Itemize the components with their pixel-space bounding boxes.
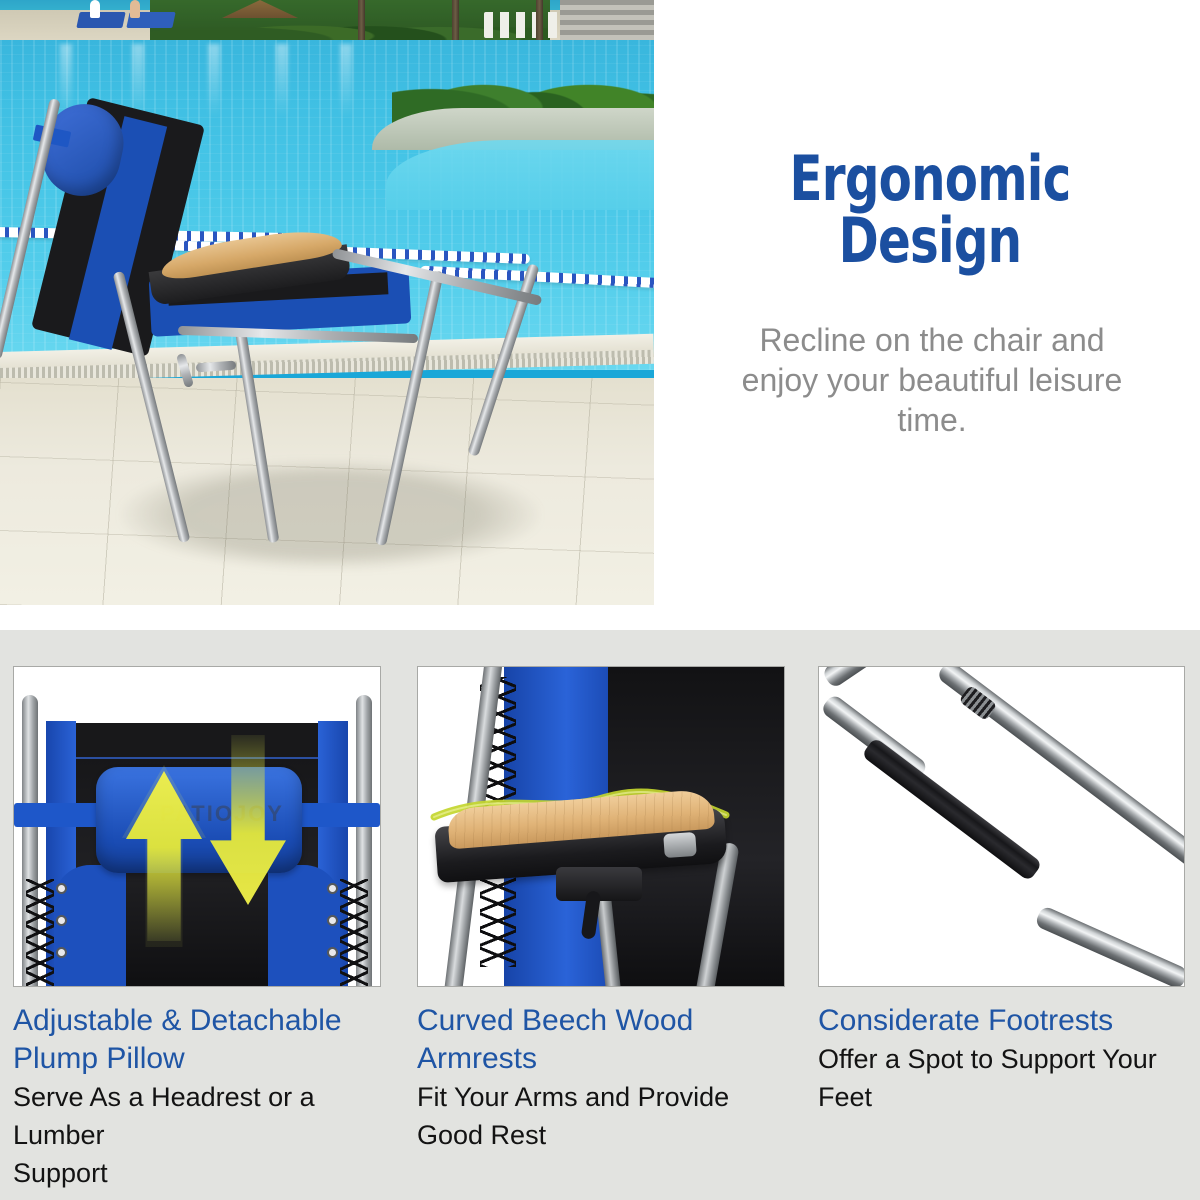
footrest-tube-lower bbox=[1034, 905, 1185, 987]
lacing-grommet bbox=[56, 915, 67, 926]
page-subtitle: Recline on the chair and enjoy your beau… bbox=[688, 320, 1176, 440]
hero-section: Ergonomic Design Recline on the chair an… bbox=[0, 0, 1200, 630]
feature-photo-armrest bbox=[417, 666, 785, 987]
lacing-grommet bbox=[327, 947, 338, 958]
lacing-grommet bbox=[56, 947, 67, 958]
backrest-top-band bbox=[66, 723, 332, 759]
footrest-illustration bbox=[819, 667, 1184, 986]
hero-photo bbox=[0, 0, 654, 605]
footrest-tube-bend bbox=[821, 666, 876, 689]
feature-body: Serve As a Headrest or a Lumber Support bbox=[13, 1078, 401, 1192]
feature-photo-footrest bbox=[818, 666, 1185, 987]
lacing-grommet bbox=[327, 915, 338, 926]
bungee-lacing-left bbox=[26, 879, 54, 987]
armrest-adjust-knob bbox=[663, 832, 697, 858]
feature-photo-pillow: PATIOJOY bbox=[13, 666, 381, 987]
lacing-grommet bbox=[327, 883, 338, 894]
hero-text-block: Ergonomic Design Recline on the chair an… bbox=[660, 0, 1200, 605]
bungee-lacing-right bbox=[340, 879, 368, 987]
features-section: PATIOJOY Adjustable & Detachable Plump P… bbox=[0, 630, 1200, 1200]
feature-body: Offer a Spot to Support Your Feet bbox=[818, 1040, 1200, 1116]
cup-holder-arm bbox=[196, 361, 237, 373]
feature-title: Adjustable & Detachable Plump Pillow bbox=[13, 1002, 401, 1078]
page-title: Ergonomic Design bbox=[719, 148, 1140, 272]
feature-body: Fit Your Arms and Provide Good Rest bbox=[417, 1078, 805, 1154]
zero-gravity-chair bbox=[0, 0, 654, 605]
cup-holder-arm bbox=[176, 353, 194, 388]
feature-title: Considerate Footrests bbox=[818, 1002, 1200, 1040]
pillow-illustration: PATIOJOY bbox=[14, 667, 380, 986]
lacing-grommet bbox=[56, 883, 67, 894]
footrest-grip-sleeve bbox=[861, 737, 1043, 882]
armrest-illustration bbox=[418, 667, 784, 986]
feature-title: Curved Beech Wood Armrests bbox=[417, 1002, 805, 1078]
